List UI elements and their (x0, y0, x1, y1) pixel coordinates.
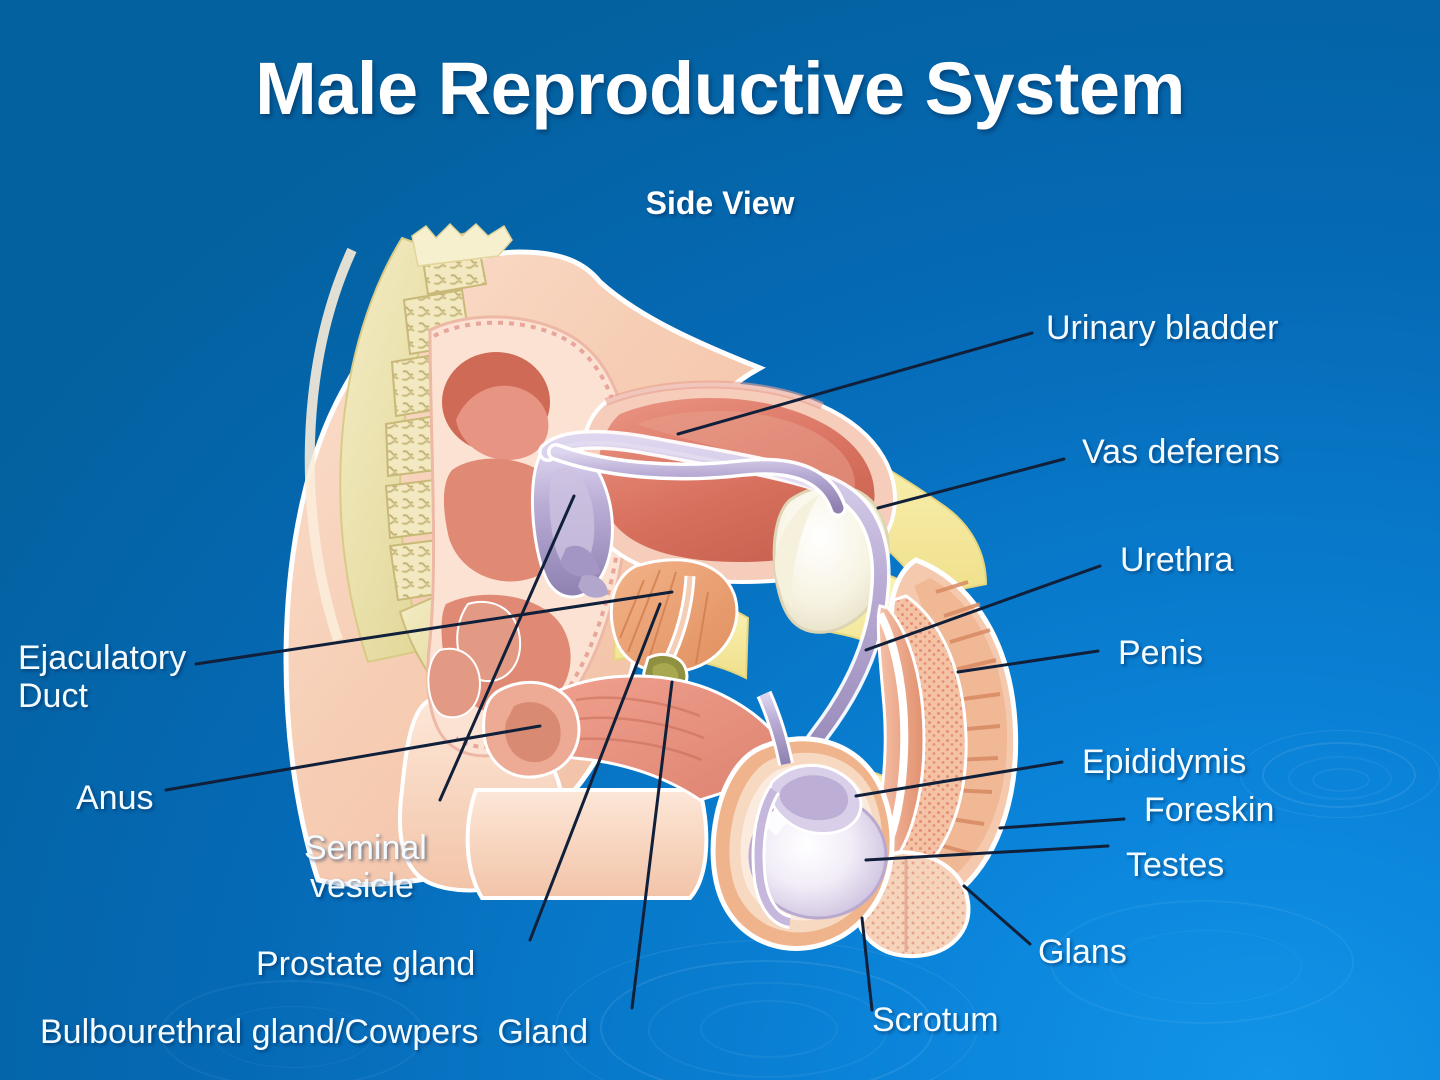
subtitle-side-view: Side View (0, 185, 1440, 222)
label-epididymis: Epididymis (1082, 742, 1246, 782)
label-urinary-bladder: Urinary bladder (1046, 308, 1278, 348)
label-seminal-vesicle-line1: Seminal (304, 828, 427, 868)
page-title: Male Reproductive System (0, 46, 1440, 131)
label-scrotum: Scrotum (872, 1000, 999, 1040)
label-prostate-gland: Prostate gland (256, 944, 475, 984)
slide-canvas: Male Reproductive System Side View Urina… (0, 0, 1440, 1080)
label-anus: Anus (76, 778, 154, 818)
label-foreskin: Foreskin (1144, 790, 1274, 830)
label-penis: Penis (1118, 633, 1203, 673)
label-seminal-vesicle-line2: vesicle (310, 866, 414, 906)
label-urethra: Urethra (1120, 540, 1233, 580)
label-ejaculatory-duct-line1: Ejaculatory (18, 638, 186, 678)
label-vas-deferens: Vas deferens (1082, 432, 1280, 472)
label-bulbourethral-gland: Bulbourethral gland/Cowpers Gland (40, 1012, 588, 1052)
label-glans: Glans (1038, 932, 1127, 972)
label-testes: Testes (1126, 845, 1224, 885)
label-ejaculatory-duct-line2: Duct (18, 676, 88, 716)
